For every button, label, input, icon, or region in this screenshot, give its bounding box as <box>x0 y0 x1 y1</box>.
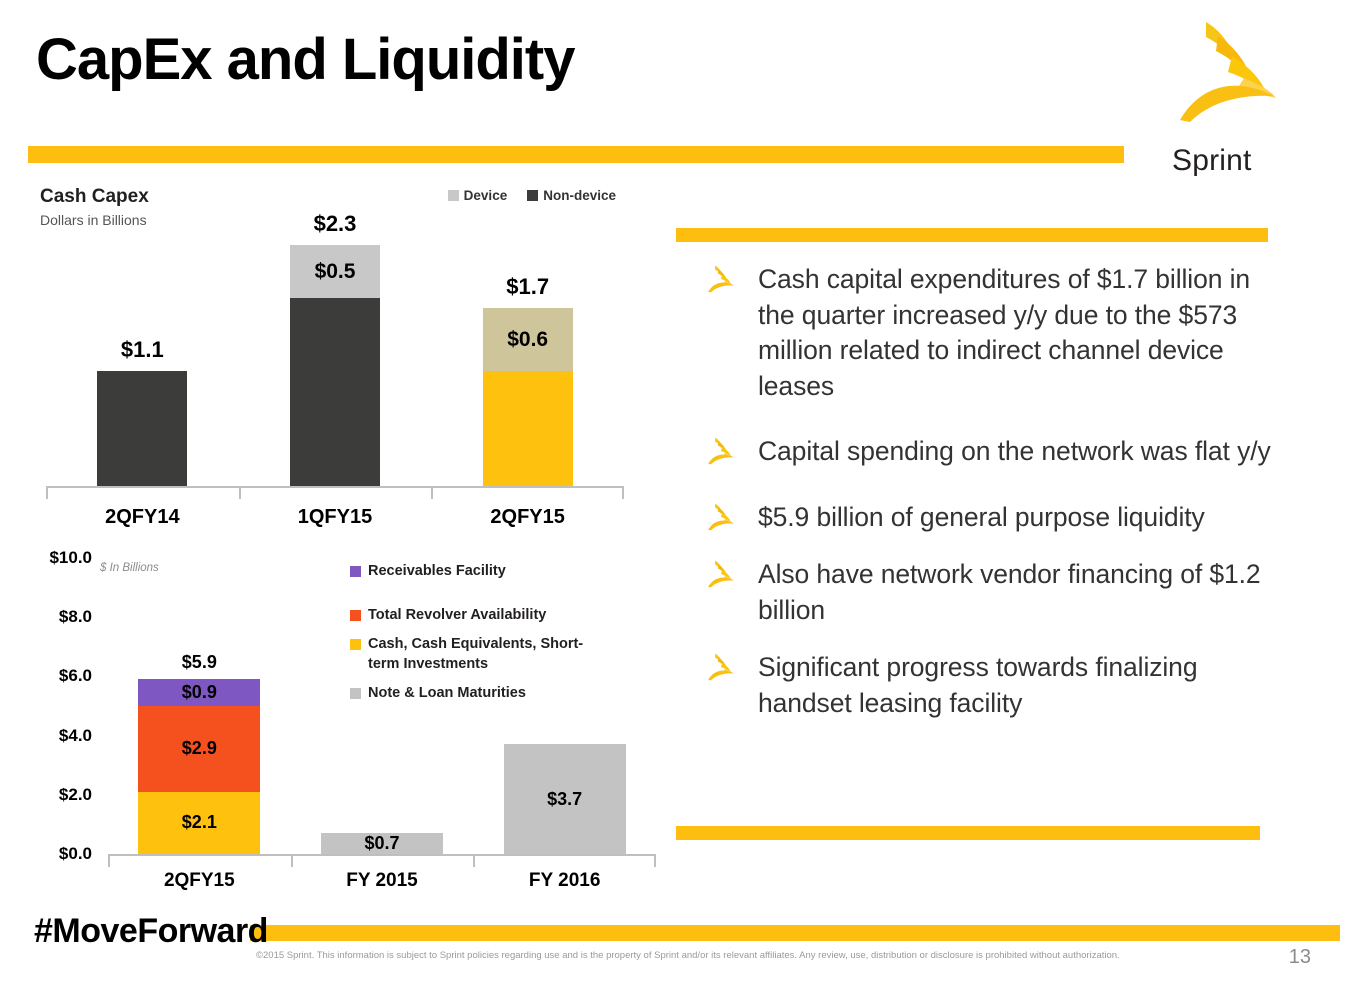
legend-item-device: Device <box>448 188 508 203</box>
xaxis-tick <box>622 488 624 499</box>
xaxis-label-2qfy14: 2QFY14 <box>52 506 232 529</box>
xaxis-tick <box>239 488 241 499</box>
chart-cash-capex-xaxis <box>46 486 624 498</box>
slide-canvas: CapEx and Liquidity Sprint Cash Capex Do… <box>0 0 1349 985</box>
bullet-item: Also have network vendor financing of $1… <box>700 557 1280 628</box>
hashtag-moveforward: #MoveForward <box>34 912 268 951</box>
xaxis-tick <box>431 488 433 499</box>
bar-segment-non-device <box>483 371 573 486</box>
xaxis-tick <box>654 856 656 867</box>
bar-segment-note-loan-maturities: $3.7 <box>504 744 626 854</box>
yaxis-label-80: $8.0 <box>20 607 92 627</box>
legend-label: Cash, Cash Equivalents, Short-term Inves… <box>368 635 590 674</box>
bar-segment-cash-cash-equivalents-short-te: $2.1 <box>138 792 260 854</box>
bar-2qfy15: $1.7$0.6 <box>483 308 573 486</box>
sprint-wing-bullet-icon <box>704 264 738 294</box>
page-number: 13 <box>1289 946 1311 969</box>
chart-liquidity-xaxis <box>108 854 656 866</box>
xaxis-tick <box>46 488 48 499</box>
bullet-marker <box>700 500 758 534</box>
sprint-wing-icon <box>1176 16 1280 128</box>
bar-fy-2015: $0.7 <box>321 833 443 854</box>
bullet-text: Significant progress towards finalizing … <box>758 650 1280 721</box>
legend-swatch-icon <box>350 566 361 577</box>
bar-total-label: $1.7 <box>448 274 608 300</box>
legend-swatch-icon <box>350 688 361 699</box>
yaxis-label-40: $4.0 <box>20 726 92 746</box>
legend-item-note-loan-maturities: Note & Loan Maturities <box>350 684 590 704</box>
bar-total-label: $5.9 <box>119 652 279 673</box>
bullet-text: Capital spending on the network was flat… <box>758 434 1271 470</box>
accent-bar-right-bottom <box>676 826 1260 840</box>
bullet-text: $5.9 billion of general purpose liquidit… <box>758 500 1205 536</box>
bar-2qfy15: $5.9$0.9$2.9$2.1 <box>138 679 260 854</box>
yaxis-label-20: $2.0 <box>20 785 92 805</box>
bar-segment-device: $0.5 <box>290 245 380 297</box>
yaxis-label-00: $0.0 <box>20 844 92 864</box>
bullet-text: Also have network vendor financing of $1… <box>758 557 1280 628</box>
chart-cash-capex-plot: $1.1$2.3$0.5$1.7$0.6 <box>46 214 624 486</box>
sprint-wing-bullet-icon <box>704 652 738 682</box>
bar-total-label: $2.3 <box>255 211 415 237</box>
legend-item-receivables-facility: Receivables Facility <box>350 562 590 582</box>
chart-cash-capex-title: Cash Capex <box>40 186 149 208</box>
bar-segment-non-device <box>290 298 380 486</box>
sprint-wing-bullet-icon <box>704 436 738 466</box>
sprint-logo-text: Sprint <box>1172 144 1292 178</box>
bullet-marker <box>700 434 758 468</box>
bullet-item: $5.9 billion of general purpose liquidit… <box>700 500 1280 536</box>
bar-1qfy15: $2.3$0.5 <box>290 245 380 486</box>
sprint-wing-bullet-icon <box>704 502 738 532</box>
bar-segment-total-revolver-availability: $2.9 <box>138 706 260 792</box>
bar-segment-note-loan-maturities: $0.7 <box>321 833 443 854</box>
chart-liquidity-legend: Receivables FacilityTotal Revolver Avail… <box>350 562 590 704</box>
xaxis-tick <box>473 856 475 867</box>
legend-swatch-icon <box>448 190 459 201</box>
xaxis-tick <box>291 856 293 867</box>
bar-fy-2016: $3.7 <box>504 744 626 854</box>
bullet-marker <box>700 650 758 684</box>
bullet-text: Cash capital expenditures of $1.7 billio… <box>758 262 1280 404</box>
legend-item-non-device: Non-device <box>527 188 616 203</box>
bullet-item: Cash capital expenditures of $1.7 billio… <box>700 262 1280 404</box>
legend-swatch-icon <box>527 190 538 201</box>
accent-bar-header <box>28 146 1124 163</box>
chart-liquidity: $ In Billions $5.9$0.9$2.9$2.1$0.7$3.7 R… <box>20 548 660 898</box>
legend-label: Receivables Facility <box>368 562 506 582</box>
bar-2qfy14: $1.1 <box>97 371 187 486</box>
legal-disclaimer: ©2015 Sprint. This information is subjec… <box>256 950 1256 962</box>
xaxis-label-2qfy15: 2QFY15 <box>109 870 289 892</box>
accent-bar-footer <box>250 925 1340 941</box>
xaxis-label-fy-2015: FY 2015 <box>292 870 472 892</box>
bar-segment-device: $0.6 <box>483 308 573 371</box>
legend-label: Total Revolver Availability <box>368 606 546 626</box>
legend-label: Note & Loan Maturities <box>368 684 526 704</box>
chart-cash-capex: Cash Capex Dollars in Billions DeviceNon… <box>38 186 638 536</box>
bullet-item: Significant progress towards finalizing … <box>700 650 1280 721</box>
bar-segment-receivables-facility: $0.9 <box>138 679 260 706</box>
legend-swatch-icon <box>350 610 361 621</box>
sprint-wing-bullet-icon <box>704 559 738 589</box>
yaxis-label-60: $6.0 <box>20 666 92 686</box>
page-title: CapEx and Liquidity <box>36 30 575 91</box>
accent-bar-right-top <box>676 228 1268 242</box>
sprint-logo: Sprint <box>1168 16 1288 176</box>
legend-label: Non-device <box>543 188 616 203</box>
bullet-list: Cash capital expenditures of $1.7 billio… <box>700 262 1280 721</box>
chart-cash-capex-legend: DeviceNon-device <box>448 188 616 203</box>
xaxis-tick <box>108 856 110 867</box>
yaxis-label-100: $10.0 <box>20 548 92 568</box>
bar-segment-non-device <box>97 371 187 486</box>
legend-item-total-revolver-availability: Total Revolver Availability <box>350 606 590 626</box>
legend-swatch-icon <box>350 639 361 650</box>
legend-item-cash-cash-equivalents-short-te: Cash, Cash Equivalents, Short-term Inves… <box>350 635 590 674</box>
legend-label: Device <box>464 188 508 203</box>
bullet-marker <box>700 262 758 296</box>
bullet-marker <box>700 557 758 591</box>
bullet-item: Capital spending on the network was flat… <box>700 434 1280 470</box>
xaxis-label-2qfy15: 2QFY15 <box>438 506 618 529</box>
bar-total-label: $1.1 <box>62 337 222 363</box>
xaxis-label-fy-2016: FY 2016 <box>475 870 655 892</box>
xaxis-label-1qfy15: 1QFY15 <box>245 506 425 529</box>
